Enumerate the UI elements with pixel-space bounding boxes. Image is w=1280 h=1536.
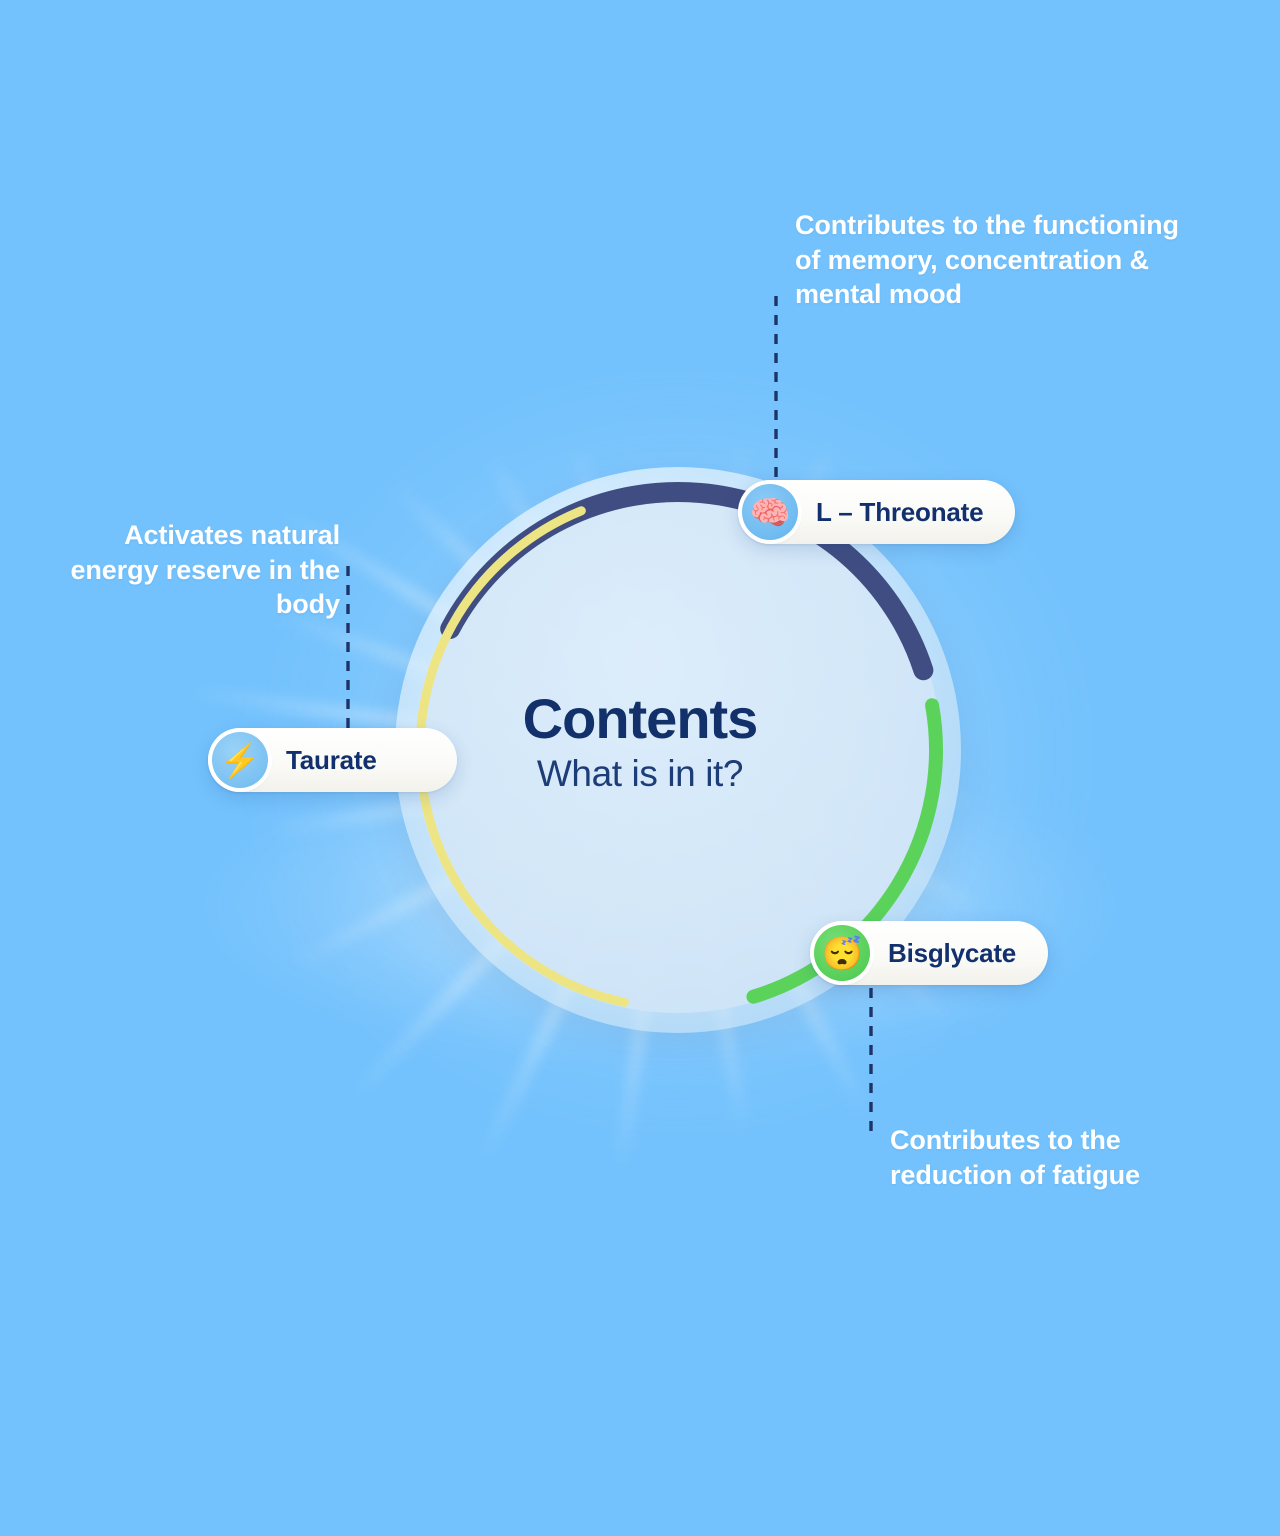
- connector-threonate: [770, 296, 782, 492]
- infographic-canvas: Contributes to the functioning of memory…: [0, 0, 1280, 1536]
- connector-taurate: [342, 566, 354, 734]
- pill-taurate[interactable]: ⚡ Taurate: [208, 728, 457, 792]
- lightning-bolt-icon: ⚡: [212, 732, 268, 788]
- pill-label-taurate: Taurate: [286, 745, 377, 776]
- callout-text-threonate: Contributes to the functioning of memory…: [795, 208, 1195, 312]
- brain-icon: 🧠: [742, 484, 798, 540]
- pill-label-bisglycate: Bisglycate: [888, 938, 1016, 969]
- pill-bisglycate[interactable]: 😴 Bisglycate: [810, 921, 1048, 985]
- callout-text-bisglycate: Contributes to the reduction of fatigue: [890, 1123, 1230, 1192]
- pill-label-threonate: L – Threonate: [816, 497, 983, 528]
- sleeping-face-icon: 😴: [814, 925, 870, 981]
- connector-bisglycate: [865, 988, 877, 1134]
- callout-text-taurate: Activates natural energy reserve in the …: [40, 518, 340, 622]
- pill-threonate[interactable]: 🧠 L – Threonate: [738, 480, 1015, 544]
